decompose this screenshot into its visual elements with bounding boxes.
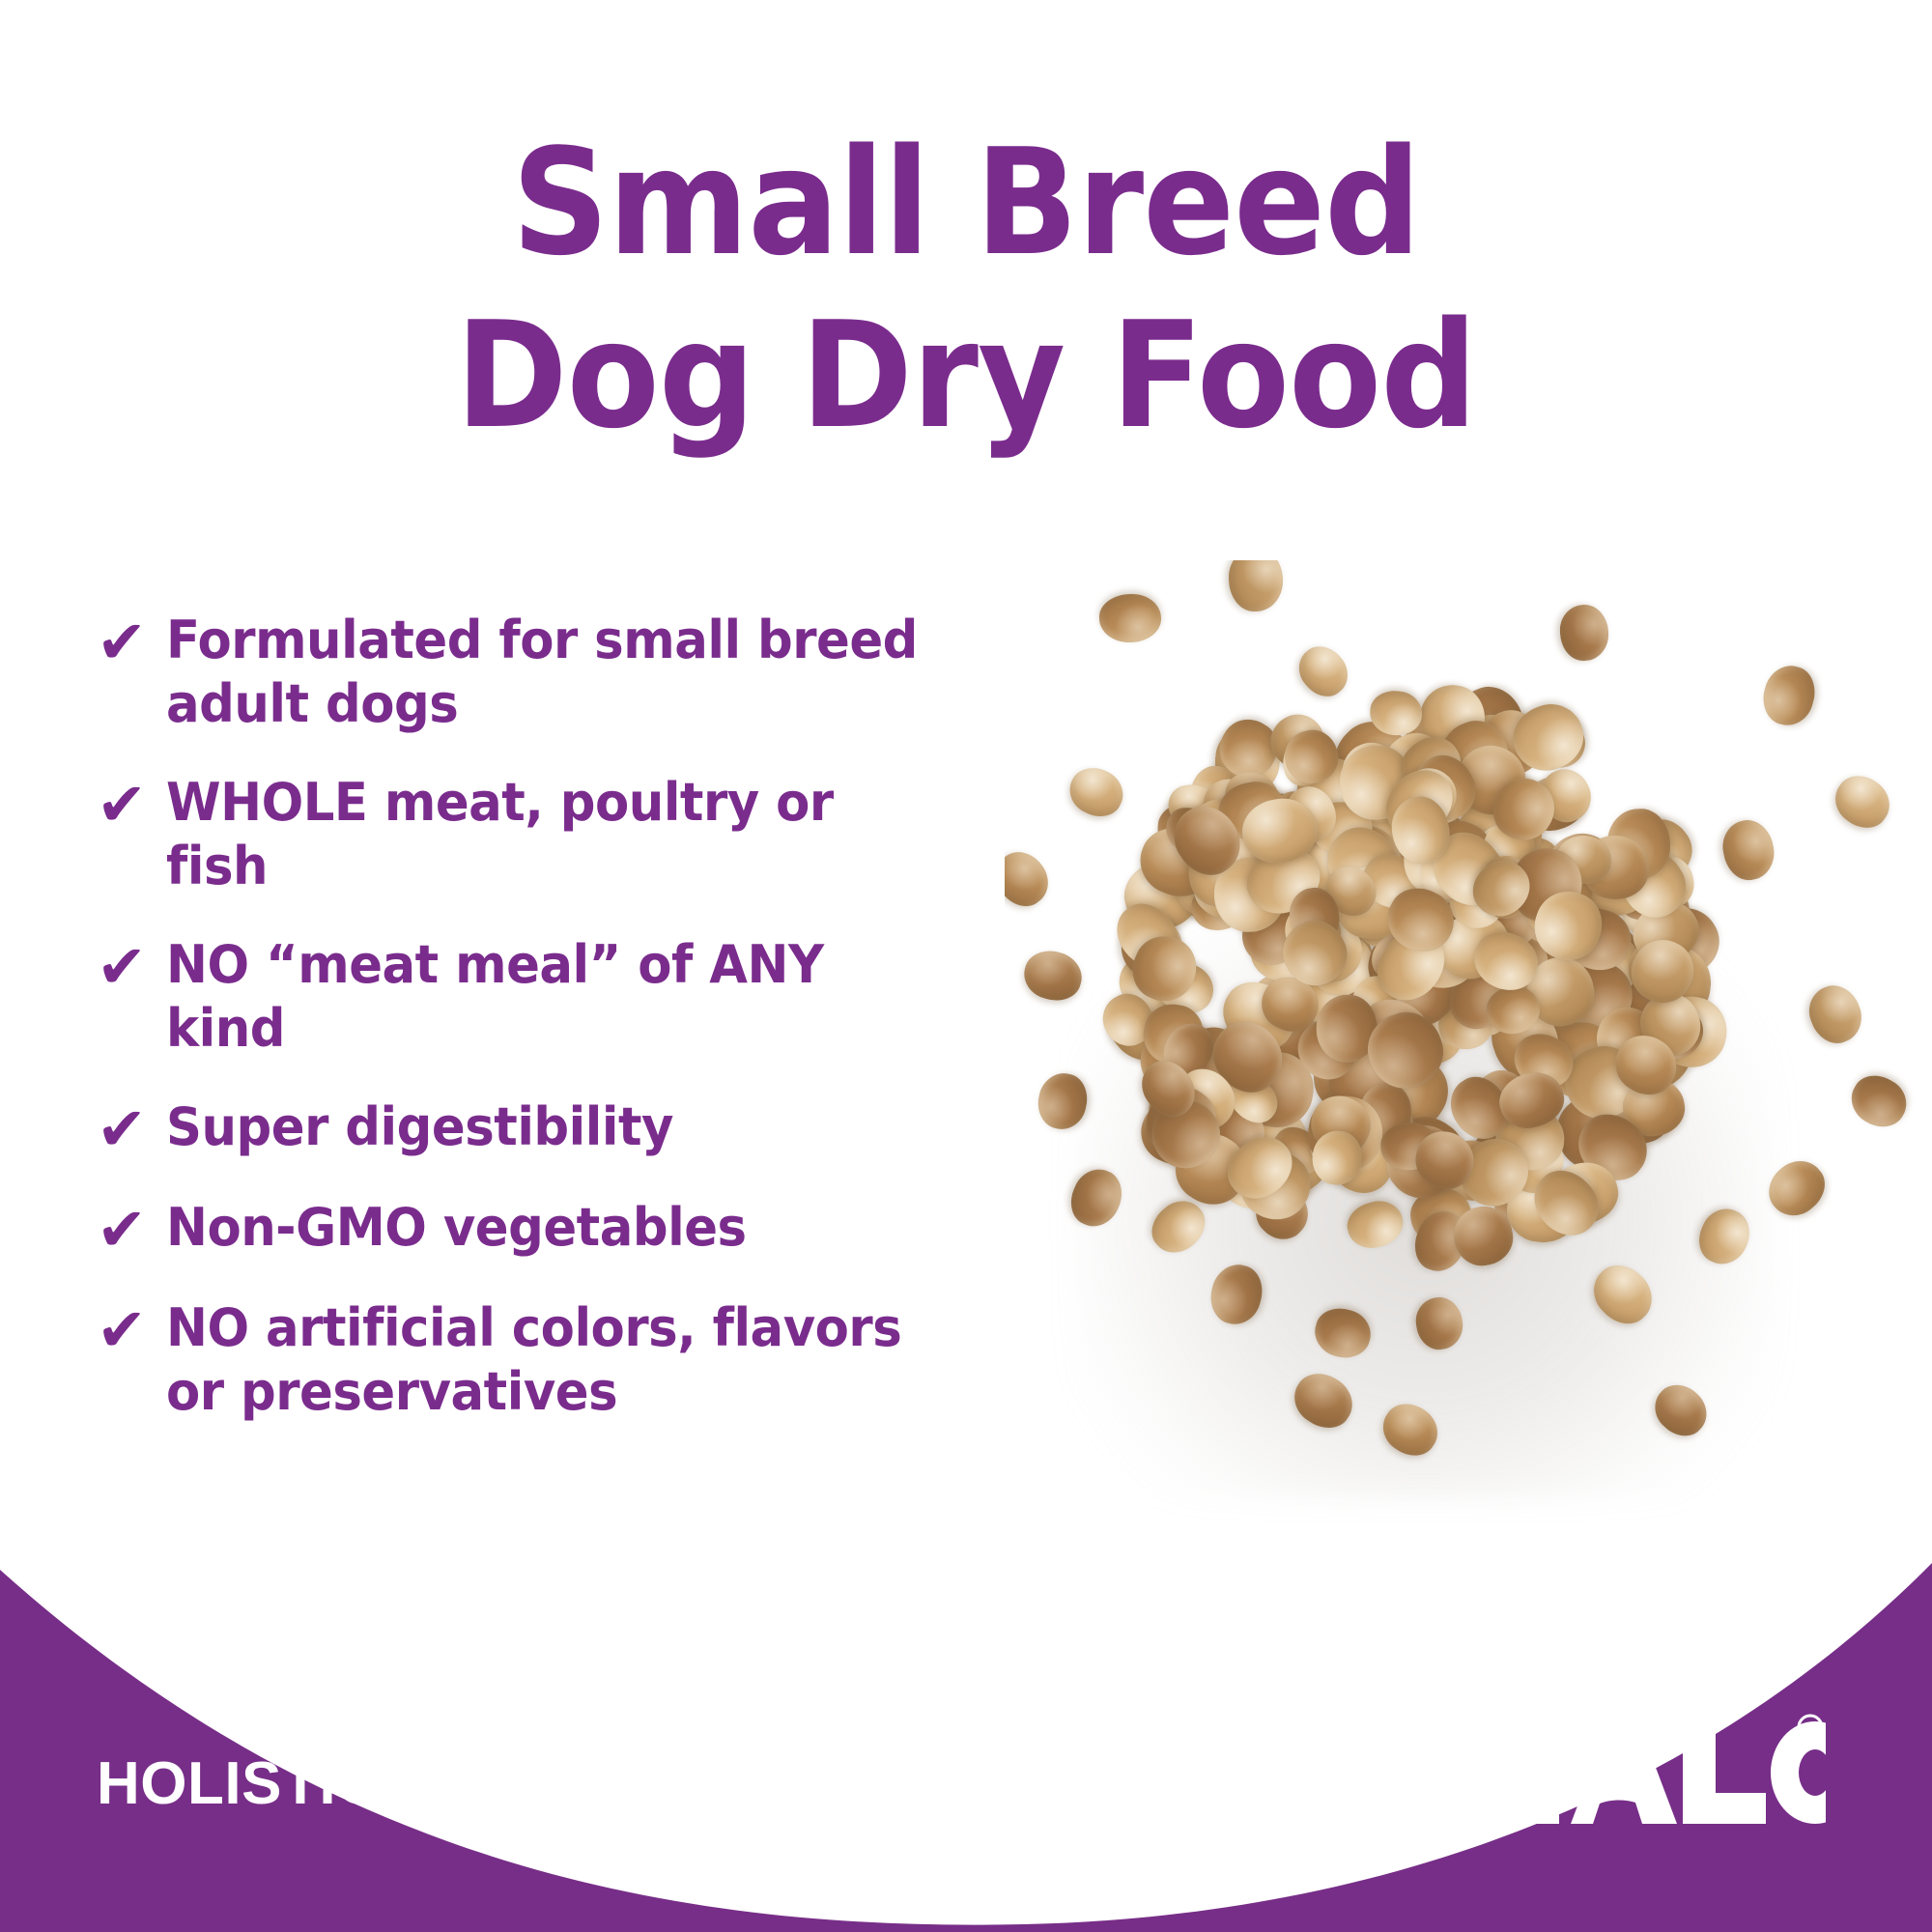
- kibble-piece: [1005, 842, 1059, 916]
- check-icon: ✔: [97, 1196, 166, 1262]
- kibble-piece: [1228, 560, 1284, 612]
- title-line-1: Small Breed: [77, 116, 1855, 289]
- check-icon: ✔: [97, 1095, 166, 1161]
- halo-logo: R: [1420, 1710, 1826, 1835]
- check-icon: ✔: [97, 771, 166, 837]
- feature-label: Super digestibility: [166, 1095, 673, 1159]
- halo-letter-l: [1683, 1721, 1766, 1824]
- brand-footer-band: [0, 1478, 1932, 1932]
- kibble-piece: [1757, 660, 1821, 730]
- halo-letter-h: [1424, 1721, 1559, 1824]
- kibble-piece: [1558, 603, 1610, 663]
- kibble-piece: [1802, 978, 1870, 1050]
- kibble-piece: [1062, 759, 1130, 825]
- tagline-text: HOLISTIC. WHOLE. HUMANE.: [97, 1750, 956, 1817]
- brand-tagline: HOLISTIC. WHOLE. HUMANE.®: [97, 1754, 975, 1814]
- check-icon: ✔: [97, 1296, 166, 1362]
- feature-label: WHOLE meat, poultry or fish: [166, 771, 926, 898]
- feature-label: Non-GMO vegetables: [166, 1196, 747, 1260]
- feature-label: Formulated for small breed adult dogs: [166, 609, 918, 736]
- feature-label: NO artificial colors, flavors or preserv…: [166, 1296, 901, 1424]
- list-item: ✔ NO artificial colors, flavors or prese…: [97, 1296, 966, 1424]
- list-item: ✔ Super digestibility: [97, 1095, 966, 1161]
- feature-list: ✔ Formulated for small breed adult dogs …: [97, 609, 966, 1424]
- list-item: ✔ NO “meat meal” of ANY kind: [97, 933, 966, 1061]
- list-item: ✔ Non-GMO vegetables: [97, 1196, 966, 1262]
- list-item: ✔ WHOLE meat, poultry or fish: [97, 771, 966, 898]
- product-feature-panel: Small Breed Dog Dry Food ✔ Formulated fo…: [0, 0, 1932, 1932]
- kibble-piece: [1718, 816, 1778, 885]
- product-photo-kibble: [1005, 560, 1932, 1526]
- feature-label: NO “meat meal” of ANY kind: [166, 933, 926, 1061]
- svg-text:R: R: [1804, 1720, 1816, 1737]
- kibble-piece: [1842, 1066, 1915, 1136]
- halo-letter-a: [1571, 1721, 1677, 1824]
- title-line-2: Dog Dry Food: [77, 289, 1855, 462]
- kibble-piece: [1290, 638, 1357, 706]
- check-icon: ✔: [97, 933, 166, 999]
- kibble-piece: [1826, 766, 1899, 838]
- kibble-piece: [1099, 594, 1162, 643]
- list-item: ✔ Formulated for small breed adult dogs: [97, 609, 966, 736]
- registered-trademark-icon: ®: [956, 1759, 975, 1788]
- check-icon: ✔: [97, 609, 166, 674]
- page-title: Small Breed Dog Dry Food: [0, 116, 1932, 463]
